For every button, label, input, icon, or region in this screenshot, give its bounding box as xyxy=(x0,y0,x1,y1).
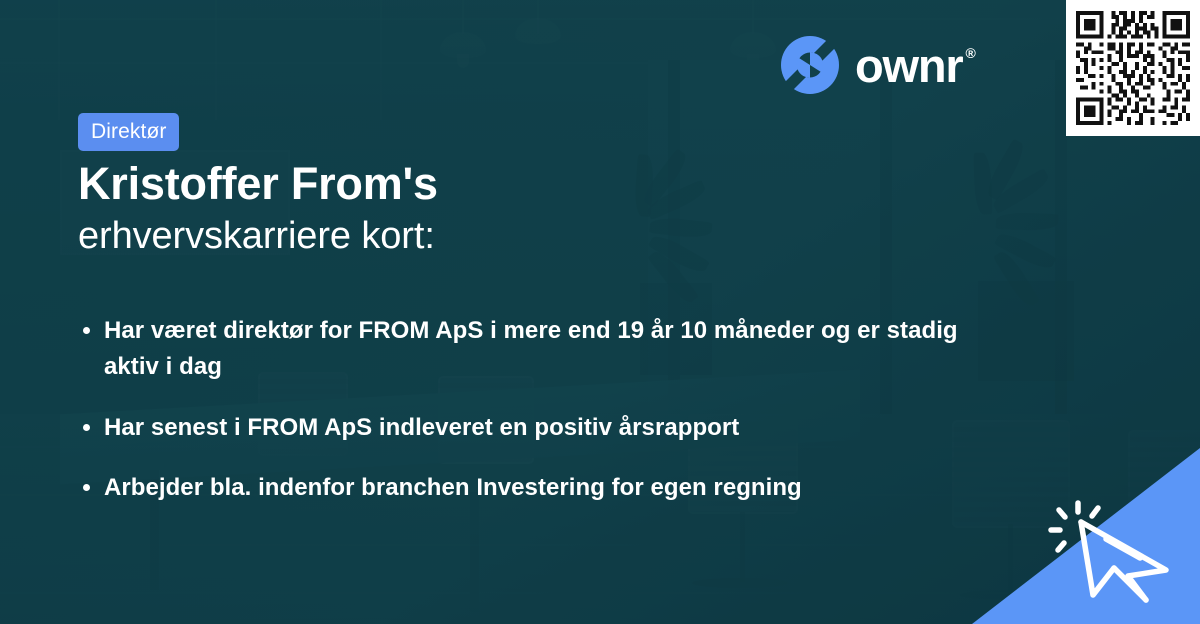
title-line-1: Kristoffer From's xyxy=(78,158,438,210)
ownr-logo[interactable]: ownr ® xyxy=(779,34,976,96)
qr-code-panel[interactable] xyxy=(1066,0,1200,136)
ownr-circle-swirl-icon xyxy=(779,34,841,96)
page-title: Kristoffer From's erhvervskarriere kort: xyxy=(78,158,438,259)
role-badge: Direktør xyxy=(78,113,179,151)
list-item: Har været direktør for FROM ApS i mere e… xyxy=(80,313,980,386)
bullet-dot-icon xyxy=(83,484,90,491)
list-item-text: Arbejder bla. indenfor branchen Invester… xyxy=(104,474,802,501)
click-cursor-icon xyxy=(1048,494,1178,604)
list-item-text: Har været direktør for FROM ApS i mere e… xyxy=(104,317,958,380)
bullet-dot-icon xyxy=(83,424,90,431)
career-facts-list: Har været direktør for FROM ApS i mere e… xyxy=(80,313,980,507)
list-item: Arbejder bla. indenfor branchen Invester… xyxy=(80,470,980,506)
card-content: Direktør Kristoffer From's erhvervskarri… xyxy=(0,0,1200,624)
ownr-wordmark: ownr ® xyxy=(855,42,976,89)
qr-code-icon xyxy=(1076,11,1190,125)
business-career-card: Direktør Kristoffer From's erhvervskarri… xyxy=(0,0,1200,624)
title-line-2: erhvervskarriere kort: xyxy=(78,214,438,260)
bullet-dot-icon xyxy=(83,327,90,334)
ownr-wordmark-text: ownr xyxy=(855,42,962,89)
registered-trademark-icon: ® xyxy=(965,46,975,60)
list-item-text: Har senest i FROM ApS indleveret en posi… xyxy=(104,414,739,441)
list-item: Har senest i FROM ApS indleveret en posi… xyxy=(80,410,980,446)
